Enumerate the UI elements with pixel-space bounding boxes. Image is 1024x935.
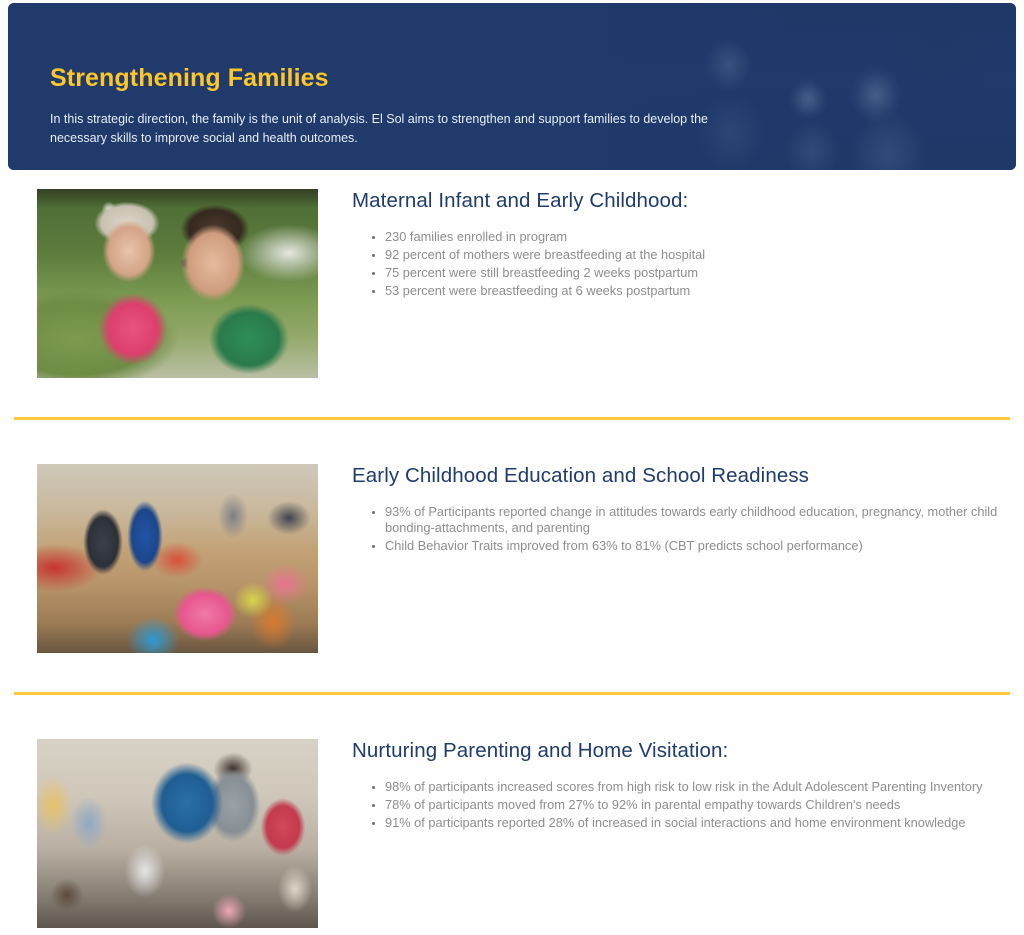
list-item: 53 percent were breastfeeding at 6 weeks…	[385, 283, 1002, 301]
list-item: 75 percent were still breastfeeding 2 we…	[385, 265, 1002, 283]
page-title: Nurturing Parenting and Home Visitation:	[352, 739, 1002, 764]
banner-title: Strengthening Families	[50, 65, 750, 93]
photo-surface	[37, 464, 318, 653]
banner-content: Strengthening Families In this strategic…	[50, 65, 750, 148]
list-item: 78% of participants moved from 27% to 92…	[385, 797, 1002, 815]
family-children-home-photo	[37, 739, 318, 928]
list-item: 93% of Participants reported change in a…	[385, 504, 1002, 539]
list-item: 98% of participants increased scores fro…	[385, 779, 1002, 797]
mother-and-toddler-photo	[37, 189, 318, 378]
page-title: Early Childhood Education and School Rea…	[352, 464, 1002, 489]
section-body: Nurturing Parenting and Home Visitation:…	[352, 739, 1002, 833]
list-item: 92 percent of mothers were breastfeeding…	[385, 247, 1002, 265]
page-title: Maternal Infant and Early Childhood:	[352, 189, 1002, 214]
banner-subtitle: In this strategic direction, the family …	[50, 110, 740, 149]
photo-surface	[37, 189, 318, 378]
hero-banner: Strengthening Families In this strategic…	[8, 3, 1016, 170]
bullet-list: 230 families enrolled in program 92 perc…	[352, 229, 1002, 302]
bullet-list: 93% of Participants reported change in a…	[352, 504, 1002, 557]
photo-surface	[37, 739, 318, 928]
section-divider	[14, 417, 1010, 420]
list-item: 230 families enrolled in program	[385, 229, 1002, 247]
section-body: Early Childhood Education and School Rea…	[352, 464, 1002, 556]
page-root: Strengthening Families In this strategic…	[0, 0, 1024, 935]
section-body: Maternal Infant and Early Childhood: 230…	[352, 189, 1002, 302]
bullet-list: 98% of participants increased scores fro…	[352, 779, 1002, 834]
section-divider	[14, 692, 1010, 695]
list-item: 91% of participants reported 28% of incr…	[385, 815, 1002, 833]
classroom-presentation-photo	[37, 464, 318, 653]
list-item: Child Behavior Traits improved from 63% …	[385, 538, 1002, 556]
